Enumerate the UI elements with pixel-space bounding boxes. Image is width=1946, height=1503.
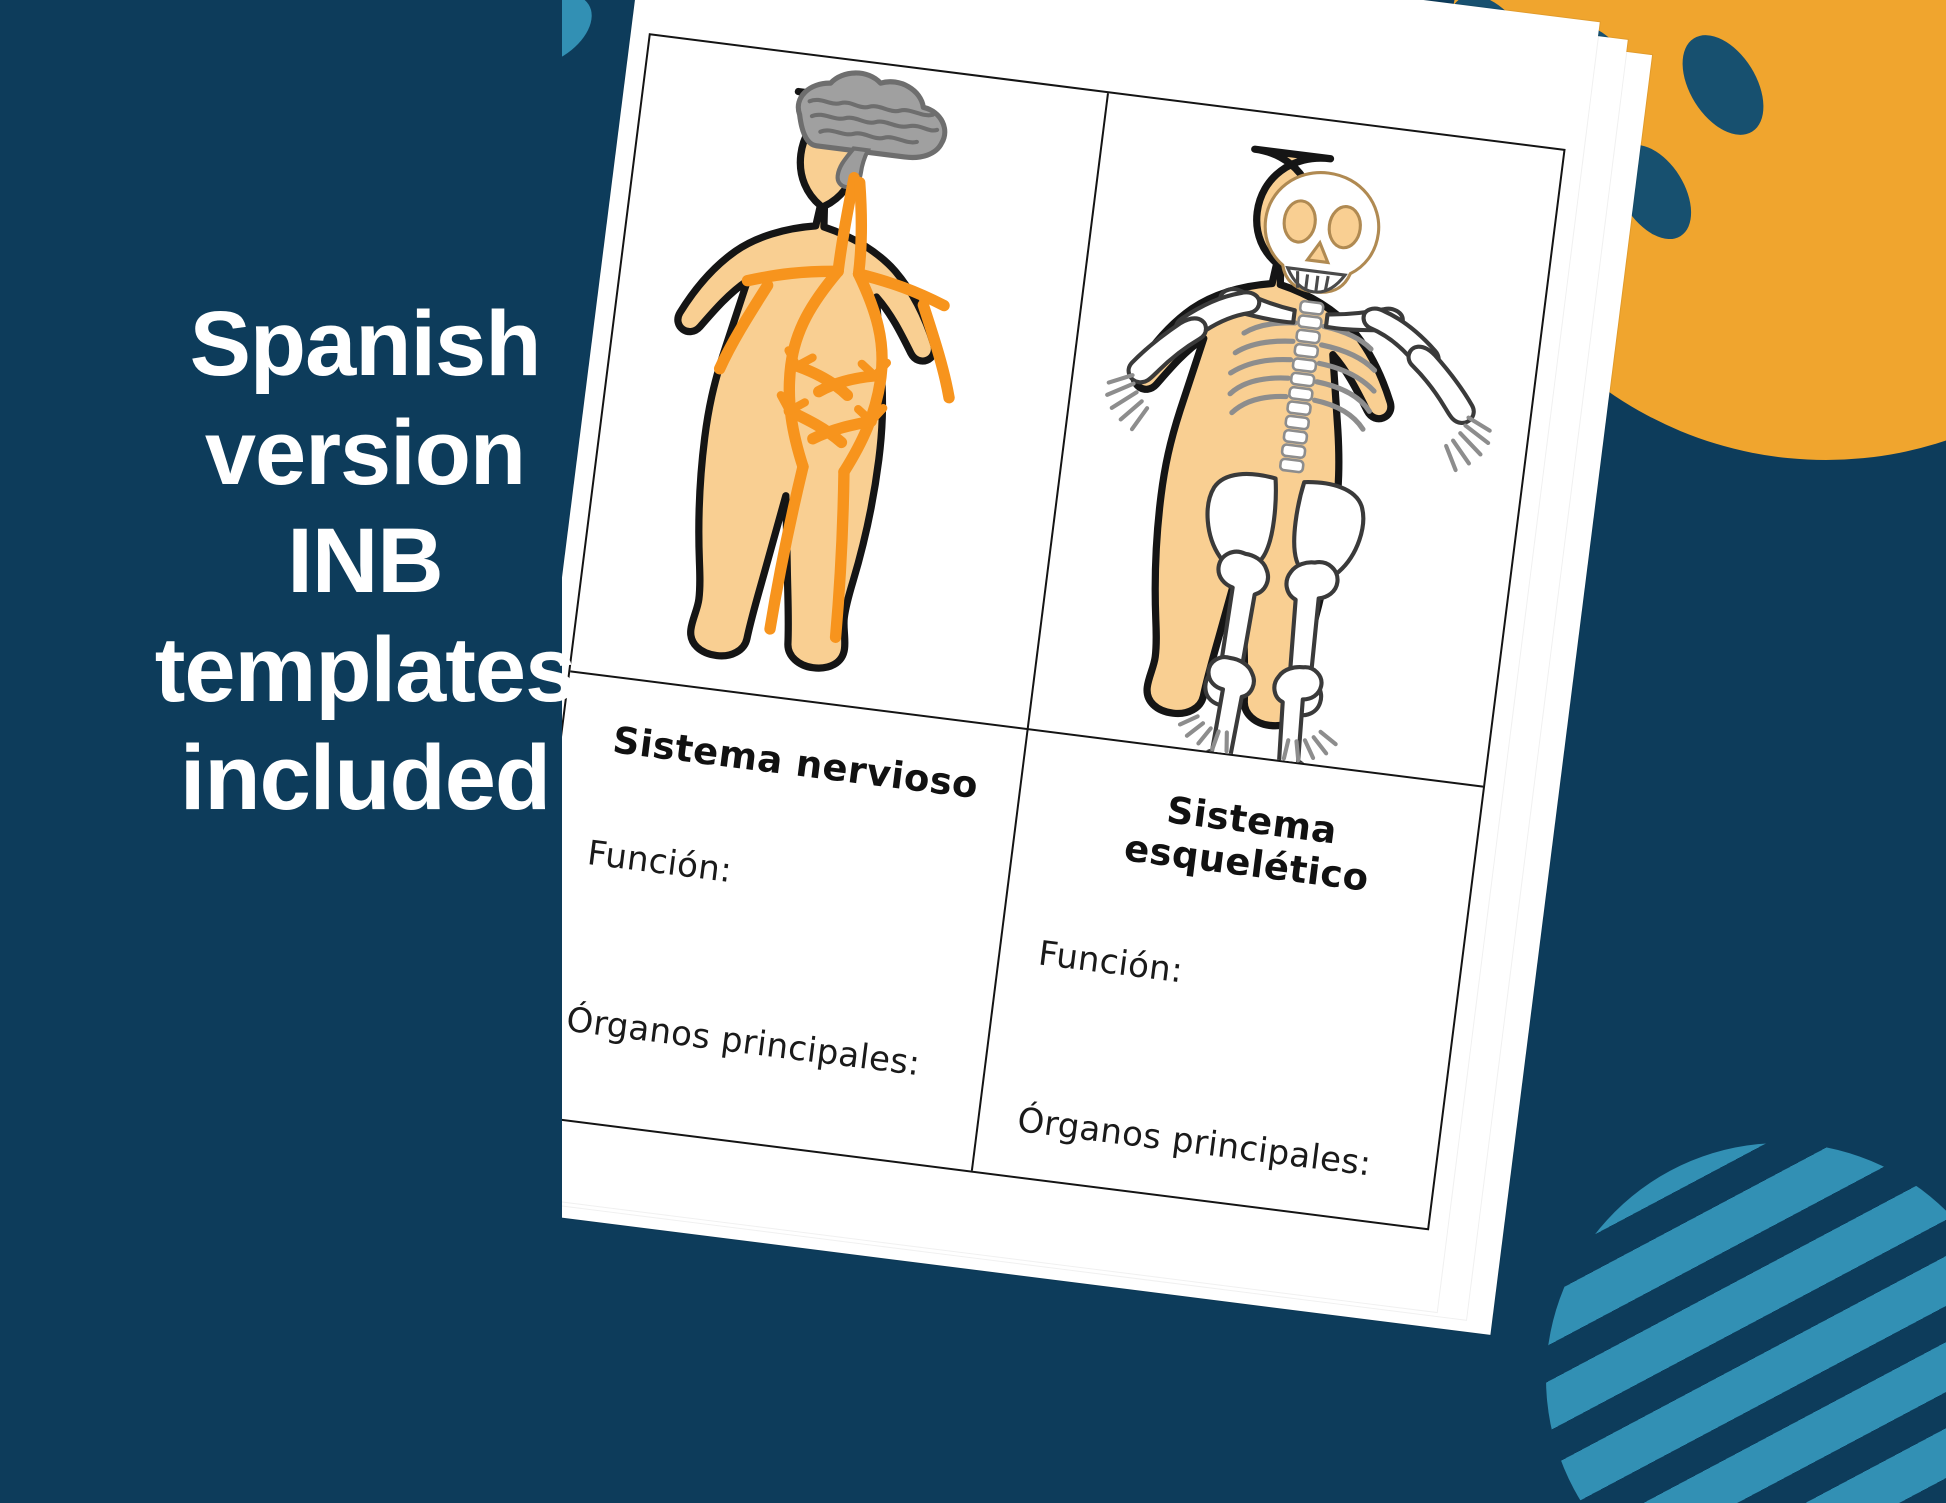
system-title-skeletal: Sistema esquelético: [1050, 775, 1448, 909]
headline-line-5: included: [70, 724, 660, 833]
field-label-funcion-nervous: Función:: [585, 833, 977, 922]
headline-line-2: version: [70, 399, 660, 508]
page-title: Spanish version INB templates included: [70, 290, 660, 833]
skeletal-system-body-figure: [1027, 93, 1564, 786]
field-label-funcion-skeletal: Función:: [1036, 933, 1428, 1022]
field-label-organos-nervous: Órganos principales:: [564, 1000, 956, 1089]
headline-line-1: Spanish: [70, 290, 660, 399]
striped-circle-bottom-right: [1546, 1143, 1946, 1503]
poster-canvas: Sistema nervioso Función: Órganos princi…: [0, 0, 1946, 1503]
headline-line-4: templates: [70, 616, 660, 725]
field-label-organos-skeletal: Órganos principales:: [1015, 1100, 1407, 1189]
worksheet-table: Sistema nervioso Función: Órganos princi…: [512, 33, 1565, 1230]
headline-line-3: INB: [70, 507, 660, 616]
skeletal-system-text-cell: Sistema esquelético Función: Órganos pri…: [971, 730, 1483, 1228]
skeletal-system-figure-cell: [1027, 93, 1564, 786]
